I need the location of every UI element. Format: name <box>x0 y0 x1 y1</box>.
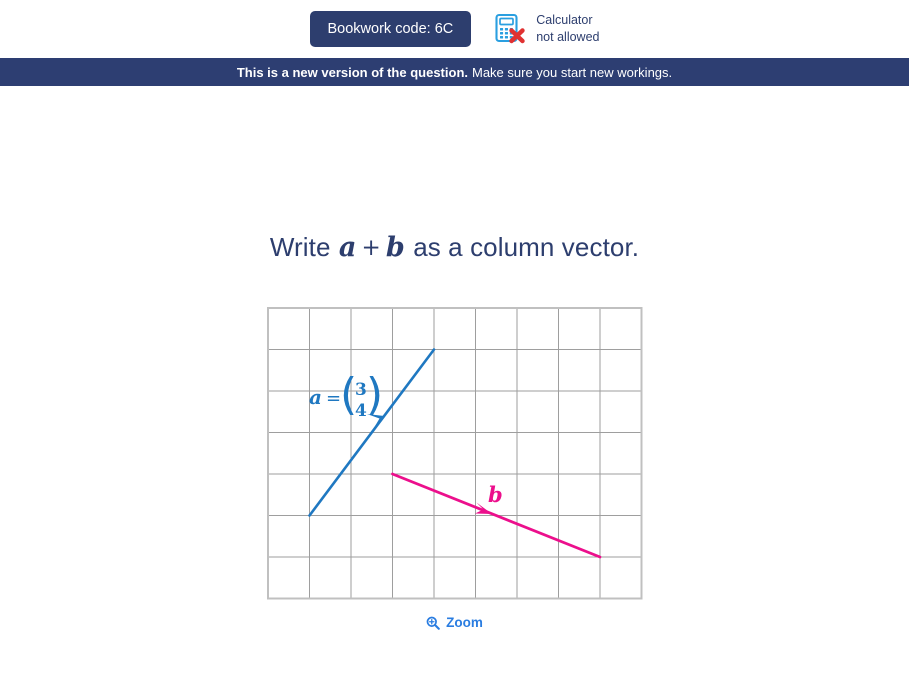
question-operator: + <box>358 235 385 261</box>
diagram-area: a = ( 3 4 ) b Zoom <box>0 306 909 630</box>
question-vector-a: a <box>338 232 358 263</box>
zoom-button[interactable]: Zoom <box>426 615 483 630</box>
zoom-label: Zoom <box>446 615 483 630</box>
new-version-notice: This is a new version of the question. M… <box>0 58 909 86</box>
top-bar: Bookwork code: 6C Calculator <box>0 0 909 58</box>
vector-a-label-equals: = <box>326 388 341 409</box>
vector-a-label: a = ( 3 4 ) <box>309 369 383 421</box>
grid-lines <box>268 308 642 599</box>
question-prefix: Write <box>270 232 331 262</box>
vector-b-label: b <box>488 482 503 507</box>
calculator-status-text: Calculator not allowed <box>536 12 599 46</box>
calculator-status: Calculator not allowed <box>493 12 599 46</box>
question-area: Write a+b as a column vector. <box>0 232 909 264</box>
calculator-crossed-icon <box>493 12 527 46</box>
notice-bold-text: This is a new version of the question. <box>237 65 468 80</box>
notice-normal-text: Make sure you start new workings. <box>472 65 672 80</box>
calculator-line-2: not allowed <box>536 29 599 46</box>
question-text: Write a+b as a column vector. <box>0 232 909 264</box>
grid-border <box>268 308 642 599</box>
question-vector-b: b <box>385 232 406 263</box>
magnifier-plus-icon <box>426 616 440 630</box>
calculator-line-1: Calculator <box>536 12 599 29</box>
vector-grid-diagram: a = ( 3 4 ) b <box>266 306 644 603</box>
bookwork-code-button[interactable]: Bookwork code: 6C <box>310 11 472 48</box>
vector-a-bracket-right: ) <box>366 369 383 420</box>
question-suffix: as a column vector. <box>413 232 639 262</box>
vector-a-label-letter: a <box>309 385 322 409</box>
